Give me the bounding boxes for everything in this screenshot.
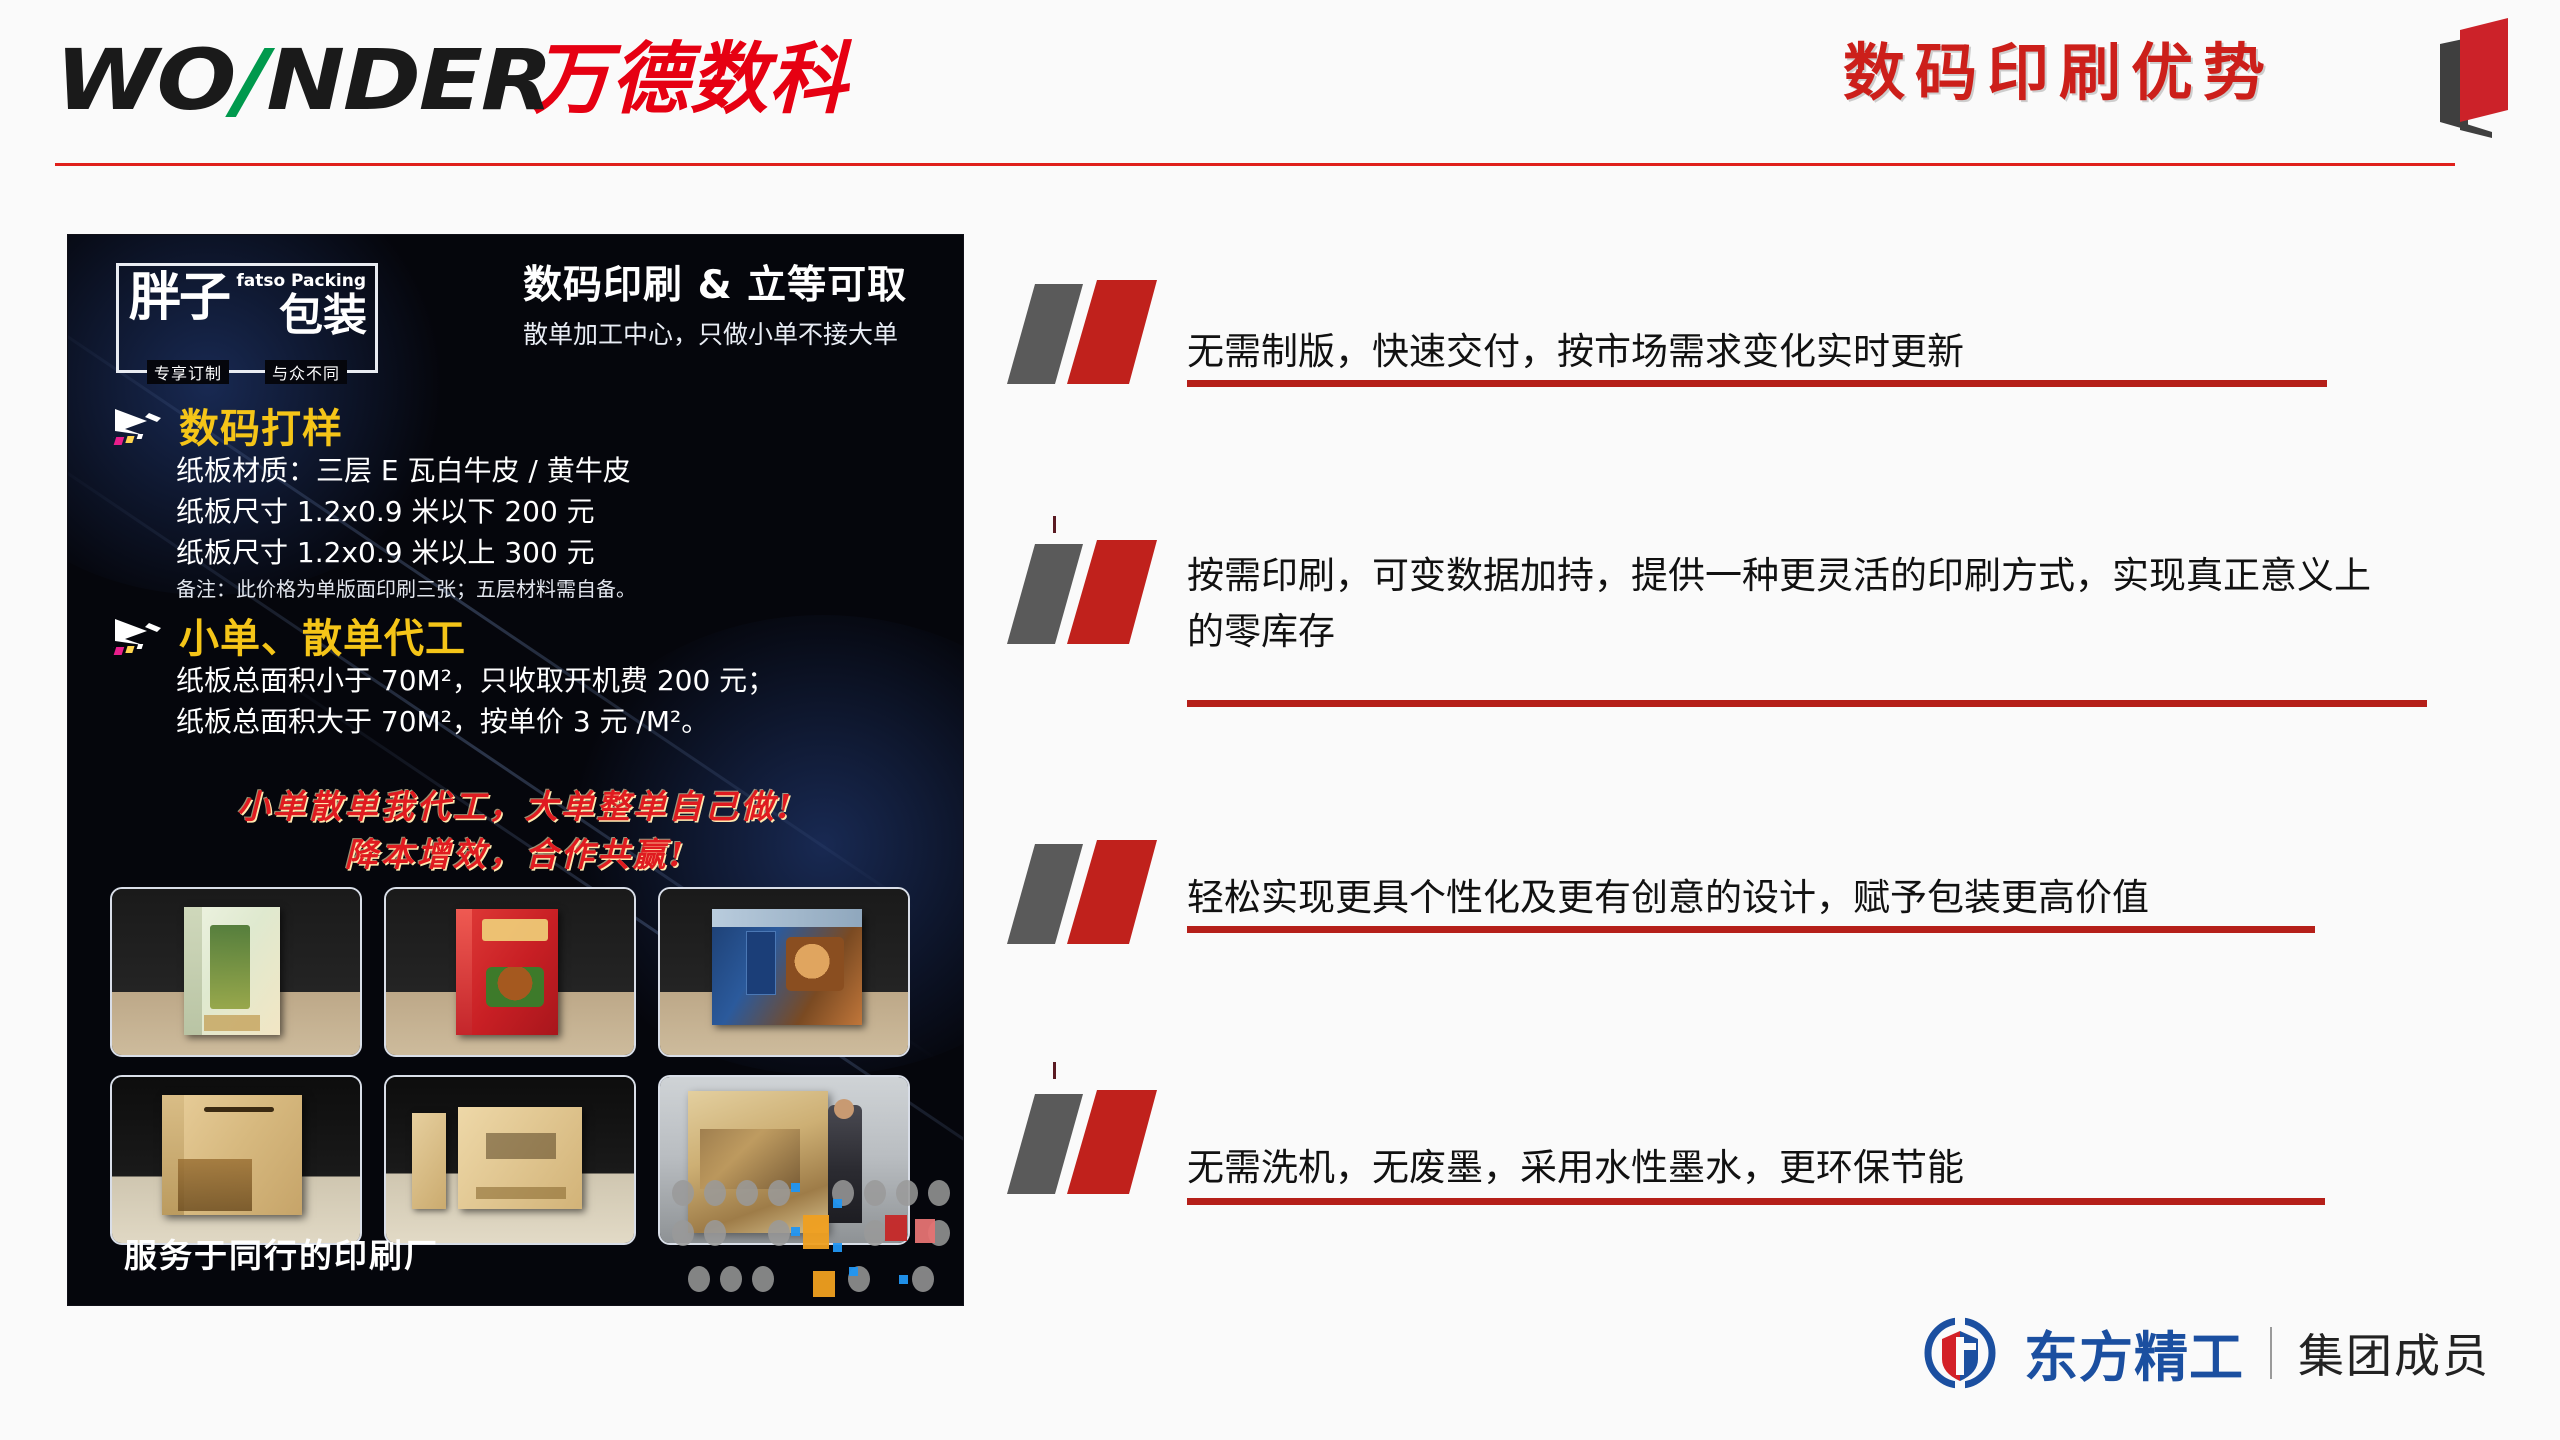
kraft-building-box-photo xyxy=(110,1075,362,1245)
slide-header: WO/NDER 万德数科 数码印刷优势 xyxy=(0,0,2560,180)
fatso-tagline-2: 与众不同 xyxy=(265,360,347,384)
advantage-underline-3 xyxy=(1187,926,2315,933)
poster-slogan: 小单散单我代工，大单整单自己做! 降本增效，合作共赢! xyxy=(68,783,963,879)
wonder-slash-green: / xyxy=(234,31,266,129)
honey-gift-box-photo xyxy=(110,887,362,1057)
tick-mark-icon xyxy=(1053,1062,1056,1079)
fatso-logo-en: fatso Packing xyxy=(236,273,366,290)
fatso-logo-taglines: 专享订制 与众不同 xyxy=(119,360,375,384)
double-slash-marker-icon xyxy=(1005,1090,1200,1200)
advantage-underline-4 xyxy=(1187,1198,2325,1205)
section-1-line-3: 纸板尺寸 1.2x0.9 米以上 300 元 xyxy=(176,533,636,574)
section-2-title-row: 小单、散单代工 xyxy=(113,617,775,661)
footer-company-name: 东方精工 xyxy=(2024,1313,2244,1392)
advantage-text-2: 按需印刷，可变数据加持，提供一种更灵活的印刷方式，实现真正意义上的零库存 xyxy=(1187,548,2377,660)
wonder-part-n: N xyxy=(266,31,343,129)
section-2-title: 小单、散单代工 xyxy=(179,619,466,659)
advantage-underline-2 xyxy=(1187,700,2427,707)
arrow-chevron-icon xyxy=(113,617,165,661)
advantage-text-3: 轻松实现更具个性化及更有创意的设计，赋予包装更高价值 xyxy=(1187,870,2377,926)
section-1-line-2: 纸板尺寸 1.2x0.9 米以下 200 元 xyxy=(176,492,636,533)
fatso-packing-logo: 胖子 fatso Packing 包装 专享订制 与众不同 xyxy=(116,263,378,373)
advantage-text-4: 无需洗机，无废墨，采用水性墨水，更环保节能 xyxy=(1187,1140,2377,1196)
double-slash-marker-icon xyxy=(1005,540,1200,650)
section-1-title: 数码打样 xyxy=(179,409,343,449)
tick-mark-icon xyxy=(1053,516,1056,533)
poster-slogan-line-1: 小单散单我代工，大单整单自己做! xyxy=(68,783,963,831)
beef-dumpling-box-photo xyxy=(658,887,910,1057)
wonder-wordmark: WO/NDER xyxy=(55,38,551,122)
footer-divider xyxy=(2270,1327,2272,1379)
dongfang-jinggong-emblem-icon xyxy=(1922,1315,1998,1391)
brand-chinese-name: 万德数科 xyxy=(532,41,848,119)
poster-subheadline: 散单加工中心，只做小单不接大单 xyxy=(523,319,898,352)
promo-poster-image: 胖子 fatso Packing 包装 专享订制 与众不同 数码印刷 & 立等可… xyxy=(68,235,963,1305)
poster-footer-text: 服务于同行的印刷厂 xyxy=(124,1229,439,1277)
poster-headline: 数码印刷 & 立等可取 xyxy=(523,263,907,310)
arrow-chevron-icon xyxy=(113,407,165,451)
double-slash-marker-icon xyxy=(1005,280,1200,390)
fatso-logo-cn-main: 胖子 xyxy=(129,272,229,324)
advantage-underline-1 xyxy=(1187,380,2327,387)
wonder-part-wo: WO xyxy=(55,31,234,129)
section-1-note: 备注：此价格为单版面印刷三张；五层材料需自备。 xyxy=(176,574,636,604)
double-slash-marker-icon xyxy=(1005,840,1200,950)
poster-section-small-order-oem: 小单、散单代工 纸板总面积小于 70M²，只收取开机费 200 元； 纸板总面积… xyxy=(113,617,775,743)
section-1-title-row: 数码打样 xyxy=(113,407,636,451)
fatso-tagline-1: 专享订制 xyxy=(147,360,229,384)
page-title: 数码印刷优势 xyxy=(1843,42,2275,104)
wonder-part-der: DER xyxy=(343,31,551,129)
wonder-brand-logo: WO/NDER 万德数科 xyxy=(55,38,848,122)
poster-slogan-line-2: 降本增效，合作共赢! xyxy=(68,831,963,879)
footer-group-logo: 东方精工 集团成员 xyxy=(1922,1313,2490,1392)
footer-member-text: 集团成员 xyxy=(2298,1320,2490,1386)
dot-pattern-decoration xyxy=(663,1175,963,1305)
section-2-line-1: 纸板总面积小于 70M²，只收取开机费 200 元； xyxy=(176,661,775,702)
header-divider xyxy=(55,163,2455,166)
fatso-logo-cn-sub: 包装 xyxy=(279,294,367,338)
red-chicken-gift-box-photo xyxy=(384,887,636,1057)
poster-photo-row-1 xyxy=(110,887,910,1057)
advantage-text-1: 无需制版，快速交付，按市场需求变化实时更新 xyxy=(1187,324,2377,380)
classic-kraft-boxes-photo xyxy=(384,1075,636,1245)
section-2-line-2: 纸板总面积大于 70M²，按单价 3 元 /M²。 xyxy=(176,702,775,743)
section-1-line-1: 纸板材质：三层 E 瓦白牛皮 / 黄牛皮 xyxy=(176,451,636,492)
book-mark-icon xyxy=(2402,10,2522,150)
poster-section-digital-proofing: 数码打样 纸板材质：三层 E 瓦白牛皮 / 黄牛皮 纸板尺寸 1.2x0.9 米… xyxy=(113,407,636,604)
